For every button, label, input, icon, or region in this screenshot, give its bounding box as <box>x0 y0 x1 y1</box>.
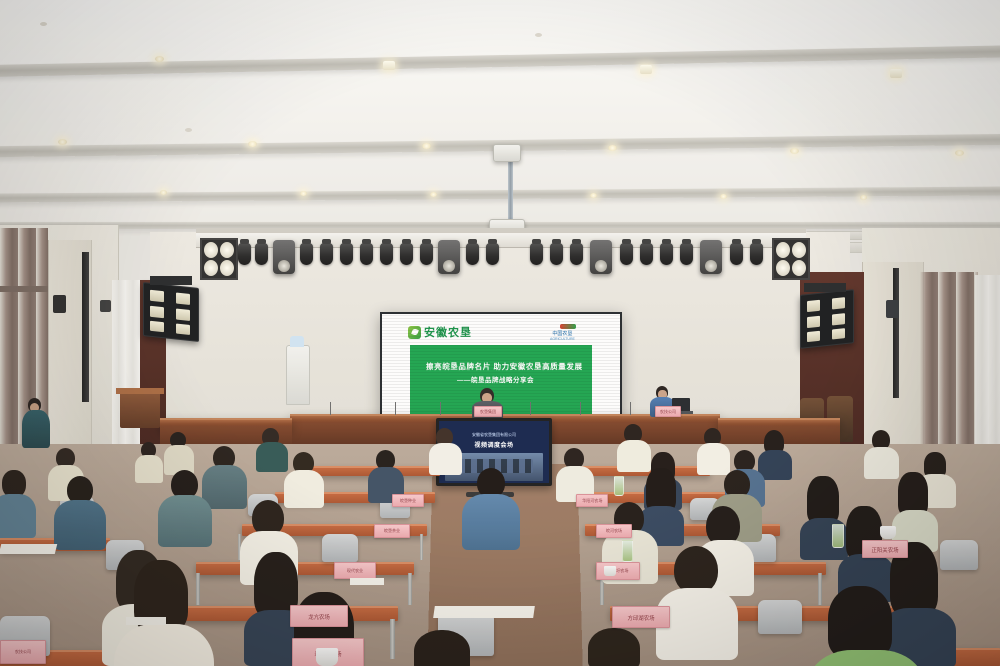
truss-support <box>196 228 806 232</box>
person-torso <box>256 442 288 472</box>
table-leg <box>818 573 822 605</box>
table-leg <box>196 573 200 605</box>
ceiling-downlight <box>155 56 164 62</box>
ceiling-downlight <box>890 69 902 78</box>
person-head <box>588 628 640 666</box>
water-dispenser-tank <box>290 336 304 347</box>
person-torso <box>697 443 730 475</box>
monitor-caption-line1: 安徽省农垦集团有限公司 <box>439 432 549 438</box>
paper-document <box>126 617 166 625</box>
wall-accent-strip-left <box>82 252 89 402</box>
stage-placard: 农垦集团 <box>474 406 502 417</box>
smoke-detector <box>535 33 542 37</box>
person-torso <box>462 494 520 550</box>
par-can-light <box>640 243 653 265</box>
ceiling-downlight <box>720 194 727 199</box>
person-head <box>828 586 892 658</box>
paper-document <box>0 544 57 554</box>
paper-document <box>350 578 384 585</box>
audience-chair <box>758 600 802 634</box>
par-can-light <box>238 243 251 265</box>
ceiling-downlight <box>640 65 652 74</box>
par-can-light <box>360 243 373 265</box>
ceiling-projector <box>493 144 521 162</box>
microphone <box>530 402 531 415</box>
coffee-cup <box>604 566 616 576</box>
ceiling-downlight <box>955 150 964 156</box>
ceiling-downlight <box>430 192 437 197</box>
person-torso <box>202 465 247 509</box>
par-can-light <box>300 243 313 265</box>
paper-document <box>433 606 535 618</box>
person-torso <box>54 500 106 550</box>
person-torso <box>135 455 163 483</box>
par-can-light <box>570 243 583 265</box>
person-torso <box>864 447 899 479</box>
moving-head-light <box>590 240 612 274</box>
line-array-speaker-left <box>143 282 199 342</box>
ceiling-downlight <box>790 148 799 154</box>
par-can-light <box>486 243 499 265</box>
podium <box>120 392 160 428</box>
water-dispenser <box>286 345 310 405</box>
person-head <box>807 476 839 524</box>
anhui-nongken-logo-icon <box>408 326 421 339</box>
par-can-light <box>340 243 353 265</box>
wall-accent-strip-right <box>893 268 899 398</box>
blinder-light-left <box>200 238 238 280</box>
brand-logo-text: 安徽农垦 <box>424 324 472 340</box>
microphone <box>630 402 631 415</box>
coffee-cup <box>880 526 896 539</box>
par-can-light <box>550 243 563 265</box>
smoke-detector <box>185 128 192 132</box>
person-torso <box>158 495 212 547</box>
table-placard: 方邱湖农场 <box>612 606 670 628</box>
table-placard: 正阳关农场 <box>862 540 908 558</box>
microphone <box>395 402 396 415</box>
par-can-light <box>420 243 433 265</box>
ceiling-downlight <box>860 195 867 200</box>
tea-glass <box>832 524 844 548</box>
table-leg <box>408 573 412 605</box>
speaker-rigging-right <box>804 283 846 292</box>
conference-room-photo: 安徽农垦 中国农垦 AGRICULTURE 擦亮皖垦品牌名片 助力安徽农垦高质量… <box>0 0 1000 666</box>
moving-head-light <box>700 240 722 274</box>
person-torso <box>22 410 50 448</box>
ceiling-downlight <box>248 141 257 147</box>
table-placard: 华阳河农场 <box>576 494 608 507</box>
par-can-light <box>680 243 693 265</box>
table-placard: 皖垦种业 <box>392 494 424 507</box>
coffee-cup <box>316 648 338 666</box>
par-can-light <box>255 243 268 265</box>
microphone <box>440 402 441 415</box>
wall-sconce-right <box>886 300 899 318</box>
slide-title-line2: ——皖垦品牌战略分享会 <box>457 374 534 384</box>
curtain-left-valance <box>0 286 48 292</box>
microphone <box>330 402 331 415</box>
person-head <box>414 630 470 666</box>
ceiling-downlight <box>608 145 617 151</box>
table-leg <box>390 619 395 659</box>
table-placard: 皖垦茶业 <box>374 524 410 538</box>
tea-glass <box>614 476 624 496</box>
person-torso <box>0 494 36 538</box>
person-torso <box>429 443 462 475</box>
par-can-light <box>750 243 763 265</box>
par-can-light <box>400 243 413 265</box>
podium-top <box>116 388 164 394</box>
ceiling-downlight <box>422 143 431 149</box>
blinder-light-right <box>772 238 810 280</box>
ceiling-downlight <box>58 139 67 145</box>
par-can-light <box>660 243 673 265</box>
tea-glass <box>622 540 633 562</box>
stage-placard: 农技公司 <box>655 406 681 417</box>
moving-head-light <box>438 240 460 274</box>
par-can-light <box>466 243 479 265</box>
table-placard: 大圹圩农场 <box>596 562 640 580</box>
secondary-logo-line2: AGRICULTURE <box>550 338 575 342</box>
table-placard: 皖河农场 <box>596 524 632 538</box>
secondary-logo-ribbon <box>560 324 576 329</box>
ceiling-downlight <box>300 191 307 196</box>
slide-title-line1: 擦亮皖垦品牌名片 助力安徽农垦高质量发展 <box>426 361 583 372</box>
audience-table <box>196 562 414 575</box>
ceiling-downlight <box>160 190 167 195</box>
par-can-light <box>530 243 543 265</box>
speaker-rigging-left <box>150 276 192 285</box>
table-placard: 农技公司 <box>0 640 46 664</box>
person-head <box>674 546 718 594</box>
microphone <box>580 402 581 415</box>
par-can-light <box>620 243 633 265</box>
ceiling-downlight <box>383 61 395 70</box>
person-torso <box>284 470 324 508</box>
table-placard: 现代农业 <box>334 562 376 579</box>
audience-chair <box>322 534 358 562</box>
par-can-light <box>730 243 743 265</box>
moving-head-light <box>273 240 295 274</box>
table-leg <box>420 534 423 560</box>
wall-sconce-left <box>53 295 66 313</box>
smoke-detector <box>40 22 47 26</box>
line-array-speaker-right <box>800 289 854 349</box>
audience-chair <box>940 540 978 570</box>
person-torso <box>617 440 651 472</box>
par-can-light <box>380 243 393 265</box>
wall-sconce-left-2 <box>100 300 111 312</box>
par-can-light <box>320 243 333 265</box>
table-placard: 龙亢农场 <box>290 605 348 627</box>
ceiling-downlight <box>590 193 597 198</box>
